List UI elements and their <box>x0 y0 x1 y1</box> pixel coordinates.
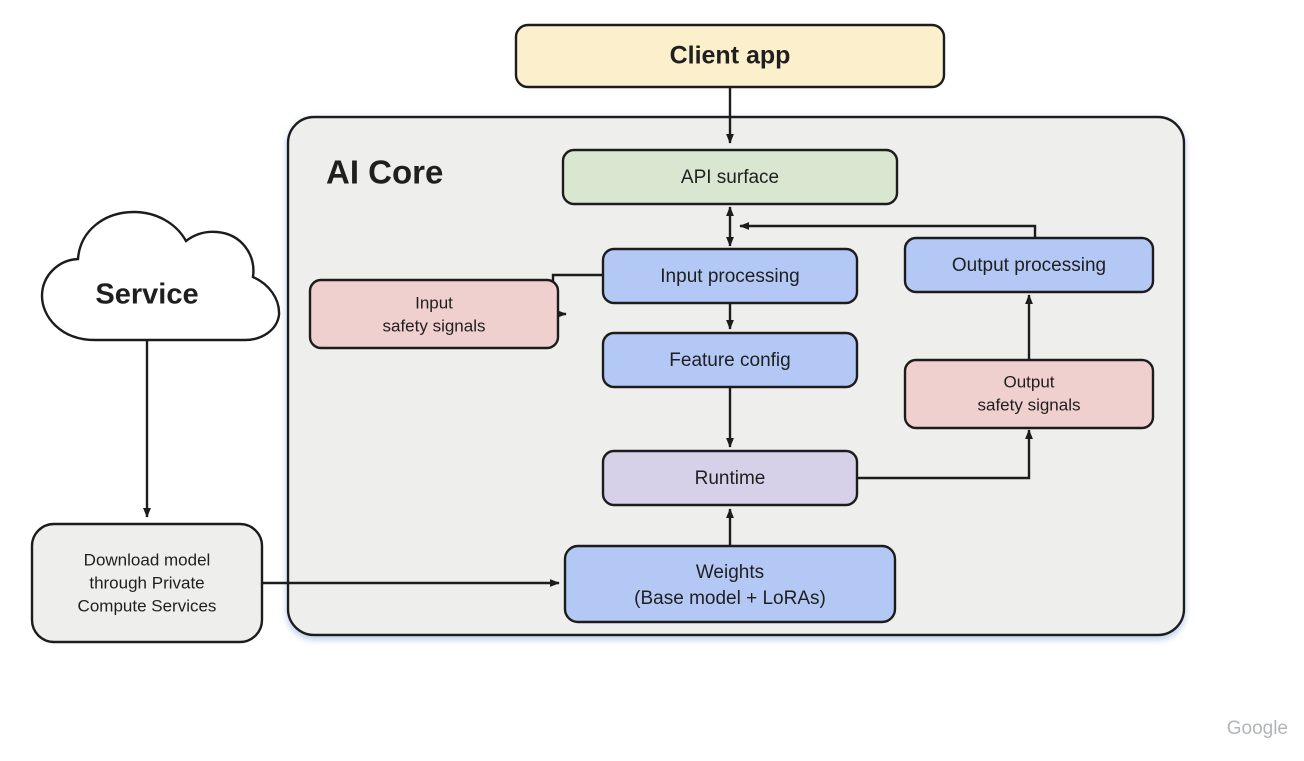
client-app-label: Client app <box>670 42 791 70</box>
download-model-label-line3: Compute Services <box>78 596 217 615</box>
feature-config-node[interactable]: Feature config <box>603 333 857 387</box>
ai-core-title: AI Core <box>326 154 443 191</box>
runtime-node[interactable]: Runtime <box>603 451 857 505</box>
input-safety-signals-node[interactable]: Input safety signals <box>310 280 558 348</box>
download-model-label-line2: through Private <box>89 573 204 592</box>
output-processing-node[interactable]: Output processing <box>905 238 1153 292</box>
output-safety-signals-label-line2: safety signals <box>978 395 1081 414</box>
output-safety-signals-label-line1: Output <box>1003 372 1054 391</box>
input-safety-signals-box <box>310 280 558 348</box>
weights-node[interactable]: Weights (Base model + LoRAs) <box>565 546 895 622</box>
download-model-label-line1: Download model <box>84 550 211 569</box>
service-cloud-label: Service <box>95 279 198 311</box>
input-processing-label: Input processing <box>660 266 799 287</box>
download-model-node[interactable]: Download model through Private Compute S… <box>32 524 262 642</box>
output-safety-signals-box <box>905 360 1153 428</box>
runtime-label: Runtime <box>695 468 766 489</box>
weights-box <box>565 546 895 622</box>
weights-label-line1: Weights <box>696 562 764 583</box>
api-surface-node[interactable]: API surface <box>563 150 897 204</box>
architecture-diagram: AI Core Client app API surface Input pro… <box>0 0 1304 756</box>
feature-config-label: Feature config <box>669 350 790 371</box>
input-safety-signals-label-line2: safety signals <box>383 316 486 335</box>
api-surface-label: API surface <box>681 167 779 188</box>
input-safety-signals-label-line1: Input <box>415 293 453 312</box>
output-processing-label: Output processing <box>952 255 1106 276</box>
output-safety-signals-node[interactable]: Output safety signals <box>905 360 1153 428</box>
input-processing-node[interactable]: Input processing <box>603 249 857 303</box>
client-app-node[interactable]: Client app <box>516 25 944 87</box>
weights-label-line2: (Base model + LoRAs) <box>634 588 826 609</box>
google-watermark: Google <box>1227 718 1288 739</box>
